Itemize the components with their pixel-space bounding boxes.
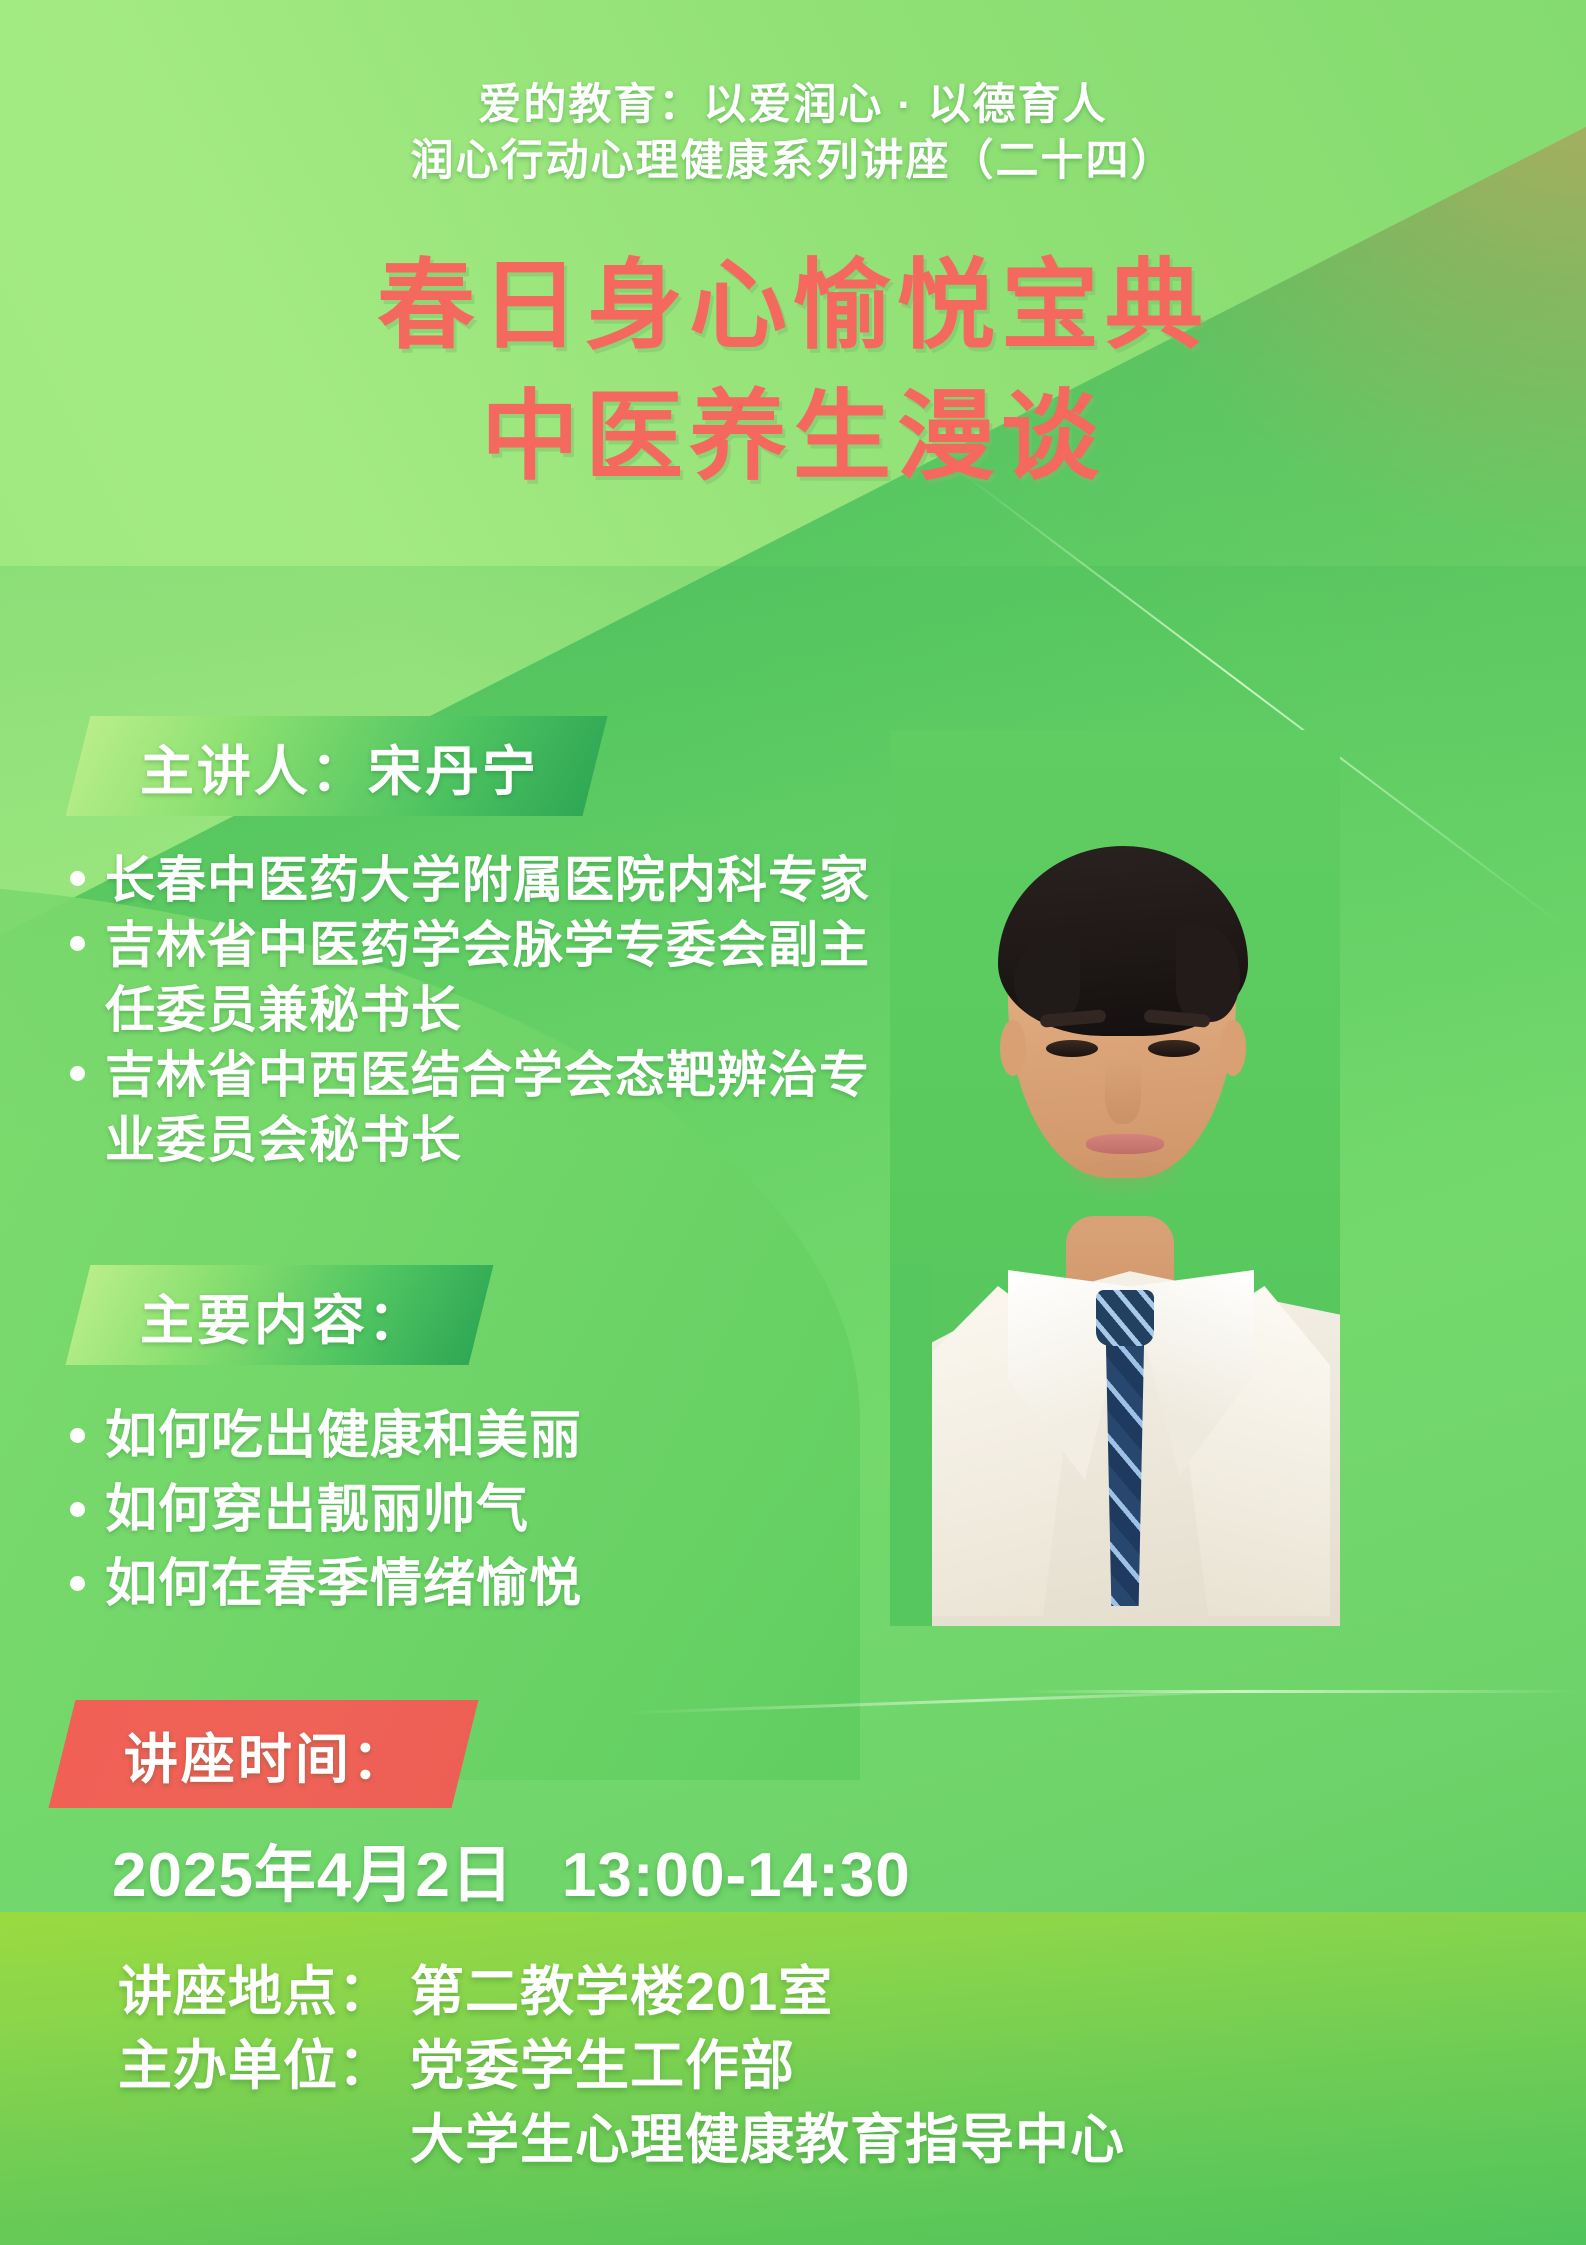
- location-label: 讲座地点：: [118, 1956, 410, 2030]
- location-value: 第二教学楼201室: [410, 1956, 833, 2030]
- photo-mouth: [1086, 1134, 1164, 1154]
- photo-nose: [1105, 1060, 1141, 1124]
- list-item-continuation: 任委员兼秘书长: [70, 978, 870, 1043]
- topic-line: 如何穿出靓丽帅气: [105, 1474, 529, 1548]
- time-banner-label: 讲座时间：: [124, 1715, 409, 1794]
- organizer-value-primary: 党委学生工作部: [410, 2030, 795, 2104]
- credential-line: 吉林省中西医结合学会态靶辨治专: [105, 1043, 870, 1108]
- photo-corner-cut: [890, 1264, 932, 1626]
- header-line-1: 爱的教育：以爱润心 · 以德育人: [0, 78, 1586, 134]
- speaker-banner-label: 主讲人：宋丹宁: [140, 727, 539, 806]
- bullet-dot-spacer-icon: [70, 1131, 85, 1146]
- footer-details: 讲座地点： 第二教学楼201室 主办单位： 党委学生工作部 大学生心理健康教育指…: [118, 1956, 1125, 2178]
- bullet-dot-icon: [70, 1066, 85, 1081]
- lecture-time-range: 13:00-14:30: [562, 1841, 911, 1910]
- main-title-line-1: 春日身心愉悦宝典: [0, 240, 1586, 371]
- speaker-banner: 主讲人：宋丹宁: [66, 716, 608, 816]
- speaker-credentials-list: 长春中医药大学附属医院内科专家 吉林省中医药学会脉学专委会副主 任委员兼秘书长 …: [70, 848, 870, 1173]
- header-line-2: 润心行动心理健康系列讲座（二十四）: [0, 134, 1586, 190]
- lecture-date: 2025年4月2日: [112, 1841, 514, 1910]
- bullet-dot-icon: [70, 1502, 85, 1517]
- topics-list: 如何吃出健康和美丽 如何穿出靓丽帅气 如何在春季情绪愉悦: [70, 1400, 582, 1621]
- page-title: 春日身心愉悦宝典 中医养生漫谈: [0, 240, 1586, 503]
- photo-ear-left: [1000, 1020, 1026, 1076]
- list-item: 吉林省中医药学会脉学专委会副主: [70, 913, 870, 978]
- photo-eye-right: [1148, 1040, 1200, 1057]
- credential-line: 业委员会秘书长: [105, 1108, 462, 1173]
- footer-organizer-row-continuation: 大学生心理健康教育指导中心: [118, 2104, 1125, 2178]
- topic-line: 如何在春季情绪愉悦: [105, 1548, 582, 1622]
- list-item-continuation: 业委员会秘书长: [70, 1108, 870, 1173]
- list-item: 长春中医药大学附属医院内科专家: [70, 848, 870, 913]
- credential-line: 吉林省中医药学会脉学专委会副主: [105, 913, 870, 978]
- credential-line: 长春中医药大学附属医院内科专家: [105, 848, 870, 913]
- footer-location-row: 讲座地点： 第二教学楼201室: [118, 1956, 1125, 2030]
- speaker-photo: [890, 730, 1340, 1626]
- bullet-dot-spacer-icon: [70, 1001, 85, 1016]
- lecture-datetime: 2025年4月2日13:00-14:30: [112, 1824, 911, 1914]
- list-item: 如何在春季情绪愉悦: [70, 1548, 582, 1622]
- bullet-dot-icon: [70, 936, 85, 951]
- topics-banner: 主要内容：: [66, 1265, 494, 1365]
- bullet-dot-icon: [70, 1576, 85, 1591]
- list-item: 如何吃出健康和美丽: [70, 1400, 582, 1474]
- organizer-value-secondary: 大学生心理健康教育指导中心: [410, 2104, 1125, 2178]
- photo-chin-shading: [1058, 1160, 1190, 1198]
- time-banner: 讲座时间：: [49, 1700, 479, 1808]
- photo-eye-left: [1046, 1040, 1098, 1057]
- footer-organizer-row: 主办单位： 党委学生工作部: [118, 2030, 1125, 2104]
- photo-necktie-knot: [1096, 1290, 1154, 1346]
- poster-root: 爱的教育：以爱润心 · 以德育人 润心行动心理健康系列讲座（二十四） 春日身心愉…: [0, 0, 1586, 2245]
- photo-ear-right: [1220, 1020, 1246, 1076]
- bullet-dot-icon: [70, 871, 85, 886]
- list-item: 吉林省中西医结合学会态靶辨治专: [70, 1043, 870, 1108]
- list-item: 如何穿出靓丽帅气: [70, 1474, 582, 1548]
- header-series-title: 爱的教育：以爱润心 · 以德育人 润心行动心理健康系列讲座（二十四）: [0, 78, 1586, 190]
- topic-line: 如何吃出健康和美丽: [105, 1400, 582, 1474]
- topics-banner-label: 主要内容：: [140, 1276, 425, 1355]
- organizer-label: 主办单位：: [118, 2030, 410, 2104]
- main-title-line-2: 中医养生漫谈: [0, 371, 1586, 502]
- organizer-label-spacer: [118, 2104, 410, 2178]
- footer-band: 讲座地点： 第二教学楼201室 主办单位： 党委学生工作部 大学生心理健康教育指…: [0, 1912, 1586, 2245]
- credential-line: 任委员兼秘书长: [105, 978, 462, 1043]
- bullet-dot-icon: [70, 1428, 85, 1443]
